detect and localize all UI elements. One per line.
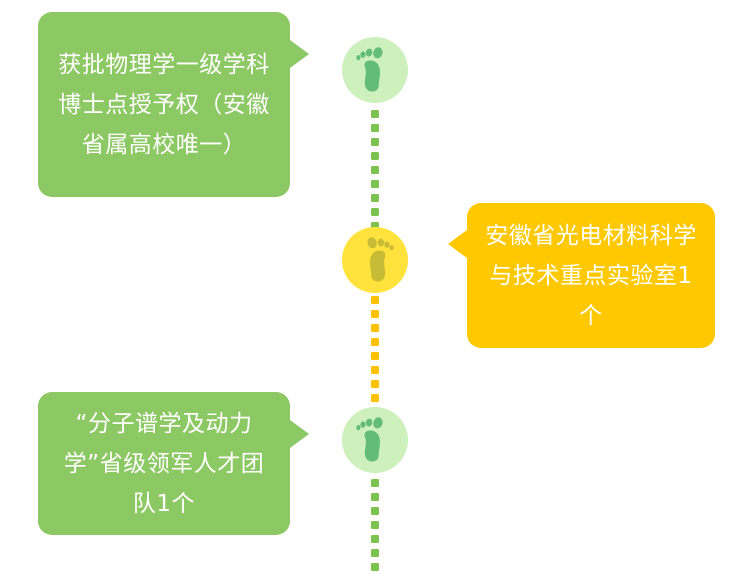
spine-segment-green-lower: [371, 479, 379, 571]
spine-segment-green-upper: [371, 110, 379, 230]
callout-bubble-item-3[interactable]: “分子谱学及动力学”省级领军人才团队1个: [38, 392, 290, 535]
callout-bubble-item-2[interactable]: 安徽省光电材料科学与技术重点实验室1个: [467, 203, 715, 348]
callout-tail-item-3: [290, 420, 309, 448]
callout-tail-item-1: [290, 40, 309, 68]
callout-tail-item-2: [448, 230, 467, 258]
diagram-canvas: 获批物理学一级学科博士点授予权（安徽省属高校唯一） 安徽省光电材料科学与技术重点…: [0, 0, 742, 574]
callout-text-item-2: 安徽省光电材料科学与技术重点实验室1个: [467, 216, 715, 336]
footprint-icon: [354, 416, 396, 464]
timeline-node-item-3[interactable]: [342, 407, 408, 473]
callout-bubble-item-1[interactable]: 获批物理学一级学科博士点授予权（安徽省属高校唯一）: [38, 12, 290, 197]
footprint-icon: [354, 236, 396, 284]
footprint-icon: [354, 46, 396, 94]
callout-text-item-1: 获批物理学一级学科博士点授予权（安徽省属高校唯一）: [38, 45, 290, 165]
callout-text-item-3: “分子谱学及动力学”省级领军人才团队1个: [38, 404, 290, 524]
spine-segment-yellow: [371, 296, 379, 402]
timeline-node-item-1[interactable]: [342, 37, 408, 103]
timeline-node-item-2[interactable]: [342, 227, 408, 293]
